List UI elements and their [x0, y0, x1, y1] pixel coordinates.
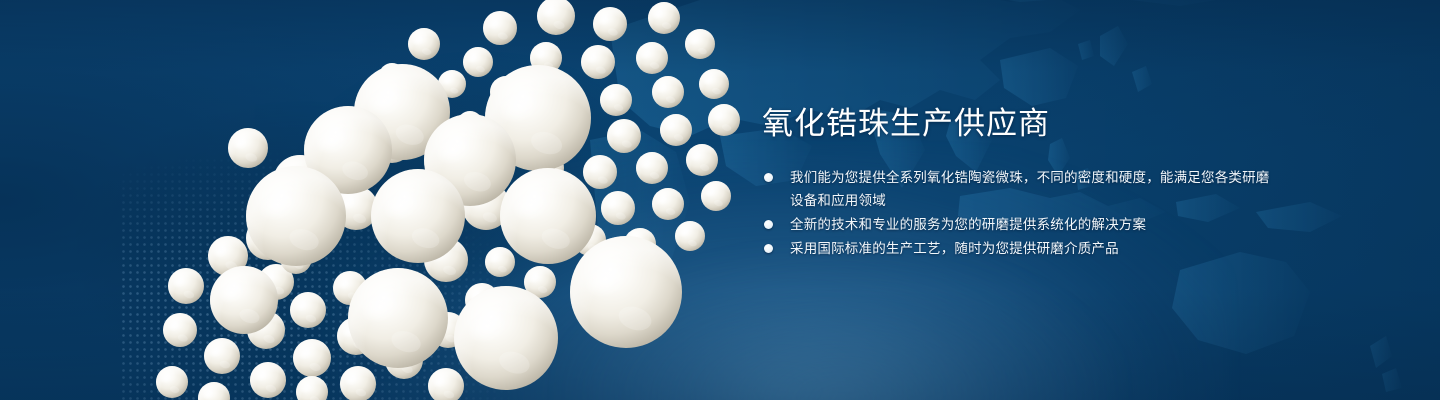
filled-circle-bullet-icon: [764, 220, 773, 229]
filled-circle-bullet-icon: [764, 173, 773, 182]
banner-bullet-text: 我们能为您提供全系列氧化锆陶瓷微珠，不同的密度和硬度，能满足您各类研磨设备和应用…: [790, 166, 1282, 212]
banner-bullet-item: 我们能为您提供全系列氧化锆陶瓷微珠，不同的密度和硬度，能满足您各类研磨设备和应用…: [762, 166, 1282, 212]
banner-bullet-text: 采用国际标准的生产工艺，随时为您提供研磨介质产品: [790, 237, 1282, 260]
zirconia-ceramic-beads-photo: [0, 0, 760, 400]
promo-banner: 氧化锆珠生产供应商 我们能为您提供全系列氧化锆陶瓷微珠，不同的密度和硬度，能满足…: [0, 0, 1440, 400]
banner-headline: 氧化锆珠生产供应商: [762, 104, 1282, 144]
banner-bullet-list: 我们能为您提供全系列氧化锆陶瓷微珠，不同的密度和硬度，能满足您各类研磨设备和应用…: [762, 166, 1282, 260]
banner-bullet-item: 采用国际标准的生产工艺，随时为您提供研磨介质产品: [762, 237, 1282, 260]
banner-bullet-text: 全新的技术和专业的服务为您的研磨提供系统化的解决方案: [790, 213, 1282, 236]
filled-circle-bullet-icon: [764, 244, 773, 253]
banner-content: 氧化锆珠生产供应商 我们能为您提供全系列氧化锆陶瓷微珠，不同的密度和硬度，能满足…: [762, 104, 1282, 261]
banner-bullet-item: 全新的技术和专业的服务为您的研磨提供系统化的解决方案: [762, 213, 1282, 236]
